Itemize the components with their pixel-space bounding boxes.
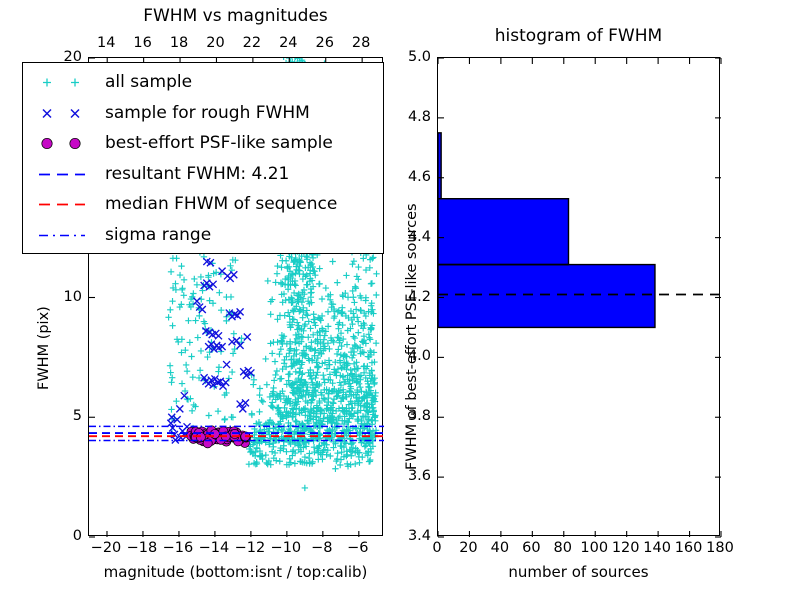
histogram-bars (438, 133, 655, 328)
legend-item[interactable]: sample for rough FWHM (27, 98, 377, 129)
left-xtick-top: 26 (315, 35, 333, 51)
left-xtick-bottom: −16 (163, 540, 194, 556)
right-xtick: 160 (675, 540, 703, 556)
left-xtick-bottom: −12 (235, 540, 266, 556)
legend-item-label: all sample (105, 72, 192, 92)
left-xtick-top: 28 (352, 35, 370, 51)
right-xtick: 60 (522, 540, 540, 556)
right-ytick: 3.6 (393, 468, 431, 484)
left-xtick-top: 18 (170, 35, 188, 51)
legend-item[interactable]: all sample (27, 67, 377, 98)
left-xaxis-bottom-ticks (107, 531, 359, 537)
left-yaxis-label: FWHM (pix) (36, 306, 52, 390)
legend-item[interactable]: sigma range (27, 220, 377, 251)
right-ytick: 5.0 (393, 49, 431, 65)
right-xtick: 20 (459, 540, 477, 556)
legend-item[interactable]: resultant FWHM: 4.21 (27, 159, 377, 190)
left-xtick-top: 22 (243, 35, 261, 51)
legend-marker-dashdot-line-icon (27, 220, 105, 251)
left-ytick: 5 (46, 408, 82, 424)
right-xtick: 0 (432, 540, 441, 556)
left-xtick-top: 20 (206, 35, 224, 51)
legend-marker-plus-icon (27, 67, 105, 98)
right-panel-title: histogram of FWHM (437, 26, 720, 46)
left-panel-title: FWHM vs magnitudes (88, 6, 383, 26)
right-xaxis-label: number of sources (437, 563, 720, 581)
left-xtick-bottom: −18 (127, 540, 158, 556)
left-ytick: 0 (46, 528, 82, 544)
left-xtick-bottom: −6 (347, 540, 368, 556)
right-xtick: 80 (554, 540, 572, 556)
legend-rows: all samplesample for rough FWHMbest-effo… (27, 67, 377, 250)
legend-box: all samplesample for rough FWHMbest-effo… (22, 62, 384, 254)
right-xtick: 180 (706, 540, 734, 556)
right-plot-drawing (438, 58, 721, 537)
right-ytick: 4.8 (393, 109, 431, 125)
right-xtick: 40 (491, 540, 509, 556)
legend-marker-dashed-line-icon (27, 159, 105, 190)
legend-item-label: resultant FWHM: 4.21 (105, 164, 289, 184)
legend-marker-cross-icon (27, 98, 105, 129)
left-xtick-top: 24 (279, 35, 297, 51)
left-xtick-top: 16 (133, 35, 151, 51)
legend-marker-circle-icon (27, 128, 105, 159)
legend-item-label: best-effort PSF-like sample (105, 133, 333, 153)
left-xtick-bottom: −20 (91, 540, 122, 556)
right-plot-axes (437, 57, 720, 536)
legend-item[interactable]: median FHWM of sequence (27, 189, 377, 220)
right-ytick: 4.6 (393, 169, 431, 185)
figure-canvas: FWHM vs magnitudes 1416182022242628 −20 (0, 0, 800, 600)
left-xtick-bottom: −14 (199, 540, 230, 556)
legend-item-label: sample for rough FWHM (105, 103, 310, 123)
right-xtick: 120 (612, 540, 640, 556)
legend-item[interactable]: best-effort PSF-like sample (27, 128, 377, 159)
left-ytick: 10 (46, 289, 82, 305)
right-xtick: 140 (643, 540, 671, 556)
left-xtick-top: 14 (97, 35, 115, 51)
right-ytick: 3.4 (393, 528, 431, 544)
legend-item-label: sigma range (105, 225, 211, 245)
left-xaxis-label: magnitude (bottom:isnt / top:calib) (88, 563, 383, 581)
left-xtick-bottom: −10 (271, 540, 302, 556)
left-xtick-bottom: −8 (311, 540, 332, 556)
right-yaxis-label: FWHM of best-effort PSF-like sources (404, 203, 420, 470)
right-xtick: 100 (580, 540, 608, 556)
legend-item-label: median FHWM of sequence (105, 194, 337, 214)
legend-marker-dashed-line-icon (27, 189, 105, 220)
